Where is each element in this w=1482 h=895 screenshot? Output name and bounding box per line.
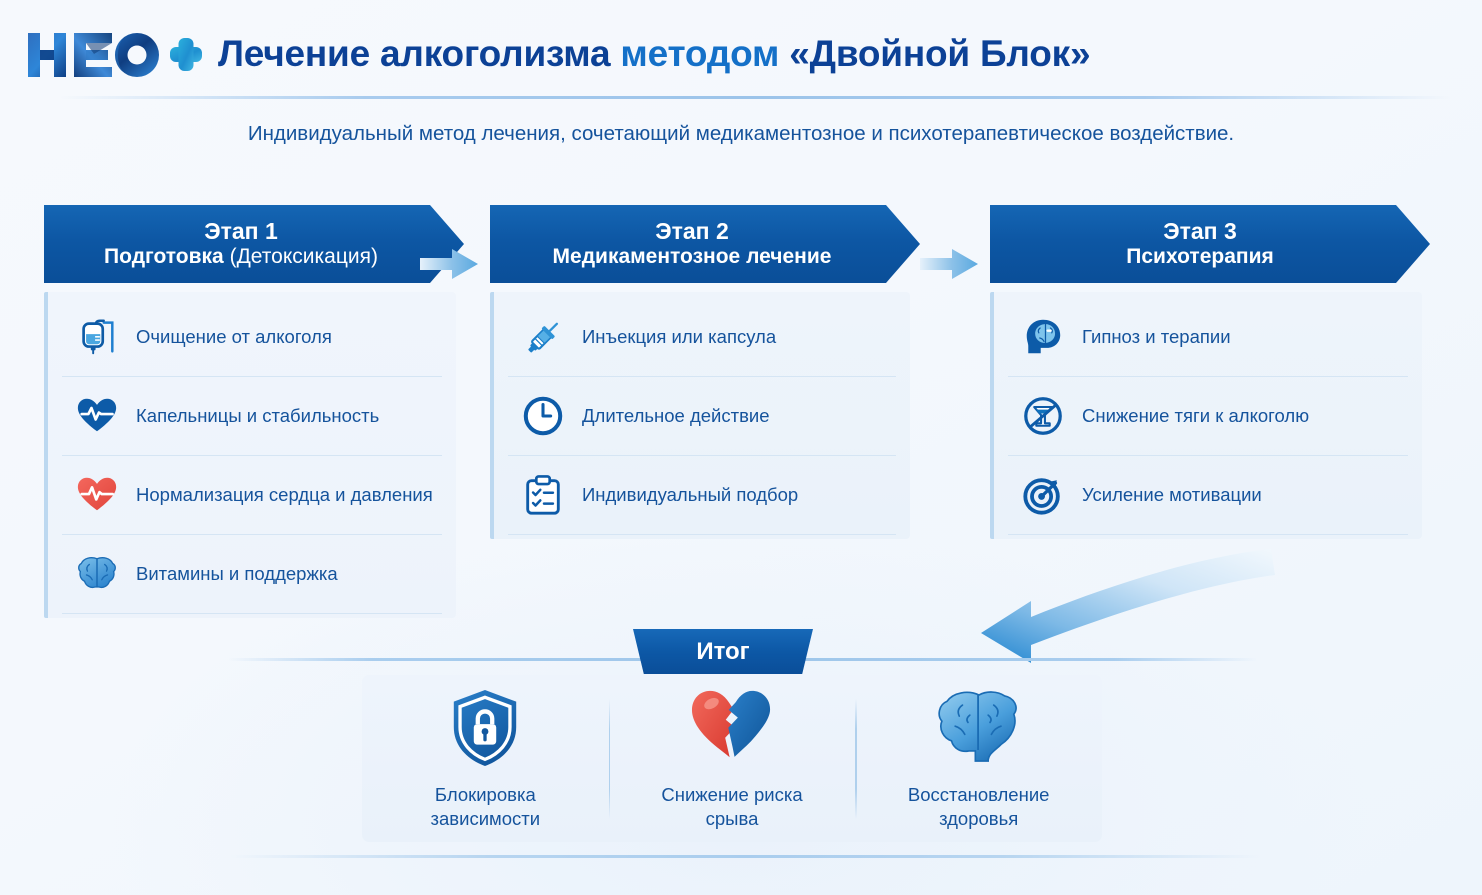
- feature-item: Индивидуальный подбор: [508, 456, 896, 535]
- result-item: Восстановление здоровья: [855, 693, 1102, 825]
- feature-item: Длительное действие: [508, 377, 896, 456]
- stage-3-name: Психотерапия: [1126, 245, 1273, 269]
- title-part-1: Лечение алкоголизма: [218, 33, 610, 74]
- feature-label: Длительное действие: [582, 405, 770, 427]
- stage-2-number: Этап 2: [655, 219, 729, 244]
- brain-recovery-icon: [935, 687, 1023, 769]
- result-item-label: Блокировка зависимости: [431, 783, 541, 830]
- stage-1-features: Очищение от алкоголя Капельницы и стабил…: [44, 292, 456, 618]
- head-brain-icon: [1020, 314, 1066, 360]
- stage-3-name-bold: Психотерапия: [1126, 245, 1273, 268]
- target-arrow-icon: [1020, 472, 1066, 518]
- result-item-line1: Блокировка: [435, 784, 536, 805]
- feature-item: Нормализация сердца и давления: [62, 456, 442, 535]
- stage-3-features: Гипноз и терапии Снижение тяги к алкогол…: [990, 292, 1422, 539]
- stage-2-name-bold: Медикаментозное лечение: [553, 245, 832, 268]
- feature-label: Снижение тяги к алкоголю: [1082, 405, 1309, 427]
- infographic-canvas: Лечение алкоголизма методом «Двойной Бло…: [0, 0, 1482, 895]
- feature-label: Усиление мотивации: [1082, 484, 1262, 506]
- title-part-3: «Двойной Блок»: [789, 33, 1090, 74]
- stage-2-features: Инъекция или капсула Длительное действие: [490, 292, 910, 539]
- result-item-line2: срыва: [706, 808, 759, 829]
- curved-arrow-left-icon: [975, 545, 1275, 670]
- arrow-right-icon: [920, 247, 980, 281]
- feature-label: Очищение от алкоголя: [136, 326, 332, 348]
- title-part-2: методом: [620, 33, 779, 74]
- feature-item: Снижение тяги к алкоголю: [1008, 377, 1408, 456]
- feature-label: Гипноз и терапии: [1082, 326, 1231, 348]
- stage-1-name-thin: (Детоксикация): [230, 245, 378, 268]
- feature-label: Нормализация сердца и давления: [136, 484, 433, 506]
- result-item: Блокировка зависимости: [362, 693, 609, 825]
- feature-label: Инъекция или капсула: [582, 326, 776, 348]
- clipboard-checklist-icon: [520, 472, 566, 518]
- arrow-right-icon: [420, 247, 480, 281]
- feature-item: Витамины и поддержка: [62, 535, 442, 614]
- result-item-line1: Восстановление: [908, 784, 1050, 805]
- result-item-line2: зависимости: [431, 808, 541, 829]
- stage-column-3: Этап 3 Психотерапия Гипноз и терапии: [990, 205, 1430, 539]
- feature-item: Инъекция или капсула: [508, 298, 896, 377]
- stage-1-name-bold: Подготовка: [104, 245, 224, 268]
- no-alcohol-glass-icon: [1020, 393, 1066, 439]
- page-title: Лечение алкоголизма методом «Двойной Бло…: [218, 33, 1090, 75]
- subtitle: Индивидуальный метод лечения, сочетающий…: [0, 122, 1482, 146]
- result-item-line1: Снижение риска: [661, 784, 802, 805]
- footer-divider: [230, 855, 1260, 858]
- stage-2-name: Медикаментозное лечение: [553, 245, 832, 269]
- stage-3-number: Этап 3: [1163, 219, 1237, 244]
- heart-pulse-blue-icon: [74, 393, 120, 439]
- feature-item: Усиление мотивации: [1008, 456, 1408, 535]
- header: Лечение алкоголизма методом «Двойной Бло…: [0, 0, 1482, 100]
- iv-drip-icon: [74, 314, 120, 360]
- stage-1-number: Этап 1: [204, 219, 278, 244]
- heart-pulse-red-icon: [74, 472, 120, 518]
- stage-1-header: Этап 1 Подготовка (Детоксикация): [44, 205, 464, 283]
- stage-column-1: Этап 1 Подготовка (Детоксикация): [44, 205, 464, 618]
- result-item-label: Снижение риска срыва: [661, 783, 802, 830]
- feature-item: Очищение от алкоголя: [62, 298, 442, 377]
- feature-item: Капельницы и стабильность: [62, 377, 442, 456]
- result-card: Блокировка зависимости: [362, 675, 1102, 842]
- syringe-icon: [520, 314, 566, 360]
- clock-icon: [520, 393, 566, 439]
- broken-heart-icon: [688, 687, 776, 769]
- header-divider: [60, 96, 1450, 99]
- result-badge: Итог: [633, 629, 813, 674]
- stage-column-2: Этап 2 Медикаментозное лечение: [490, 205, 920, 539]
- feature-label: Витамины и поддержка: [136, 563, 338, 585]
- result-badge-label: Итог: [696, 638, 749, 666]
- shield-lock-icon: [441, 687, 529, 769]
- stage-1-name: Подготовка (Детоксикация): [104, 245, 378, 269]
- brain-icon: [74, 551, 120, 597]
- feature-label: Капельницы и стабильность: [136, 405, 379, 427]
- stage-3-header: Этап 3 Психотерапия: [990, 205, 1430, 283]
- result-item: Снижение риска срыва: [609, 693, 856, 825]
- feature-label: Индивидуальный подбор: [582, 484, 798, 506]
- neo-plus-logo-icon: [24, 27, 204, 83]
- result-item-line2: здоровья: [939, 808, 1018, 829]
- result-item-label: Восстановление здоровья: [908, 783, 1050, 830]
- feature-item: Гипноз и терапии: [1008, 298, 1408, 377]
- stage-2-header: Этап 2 Медикаментозное лечение: [490, 205, 920, 283]
